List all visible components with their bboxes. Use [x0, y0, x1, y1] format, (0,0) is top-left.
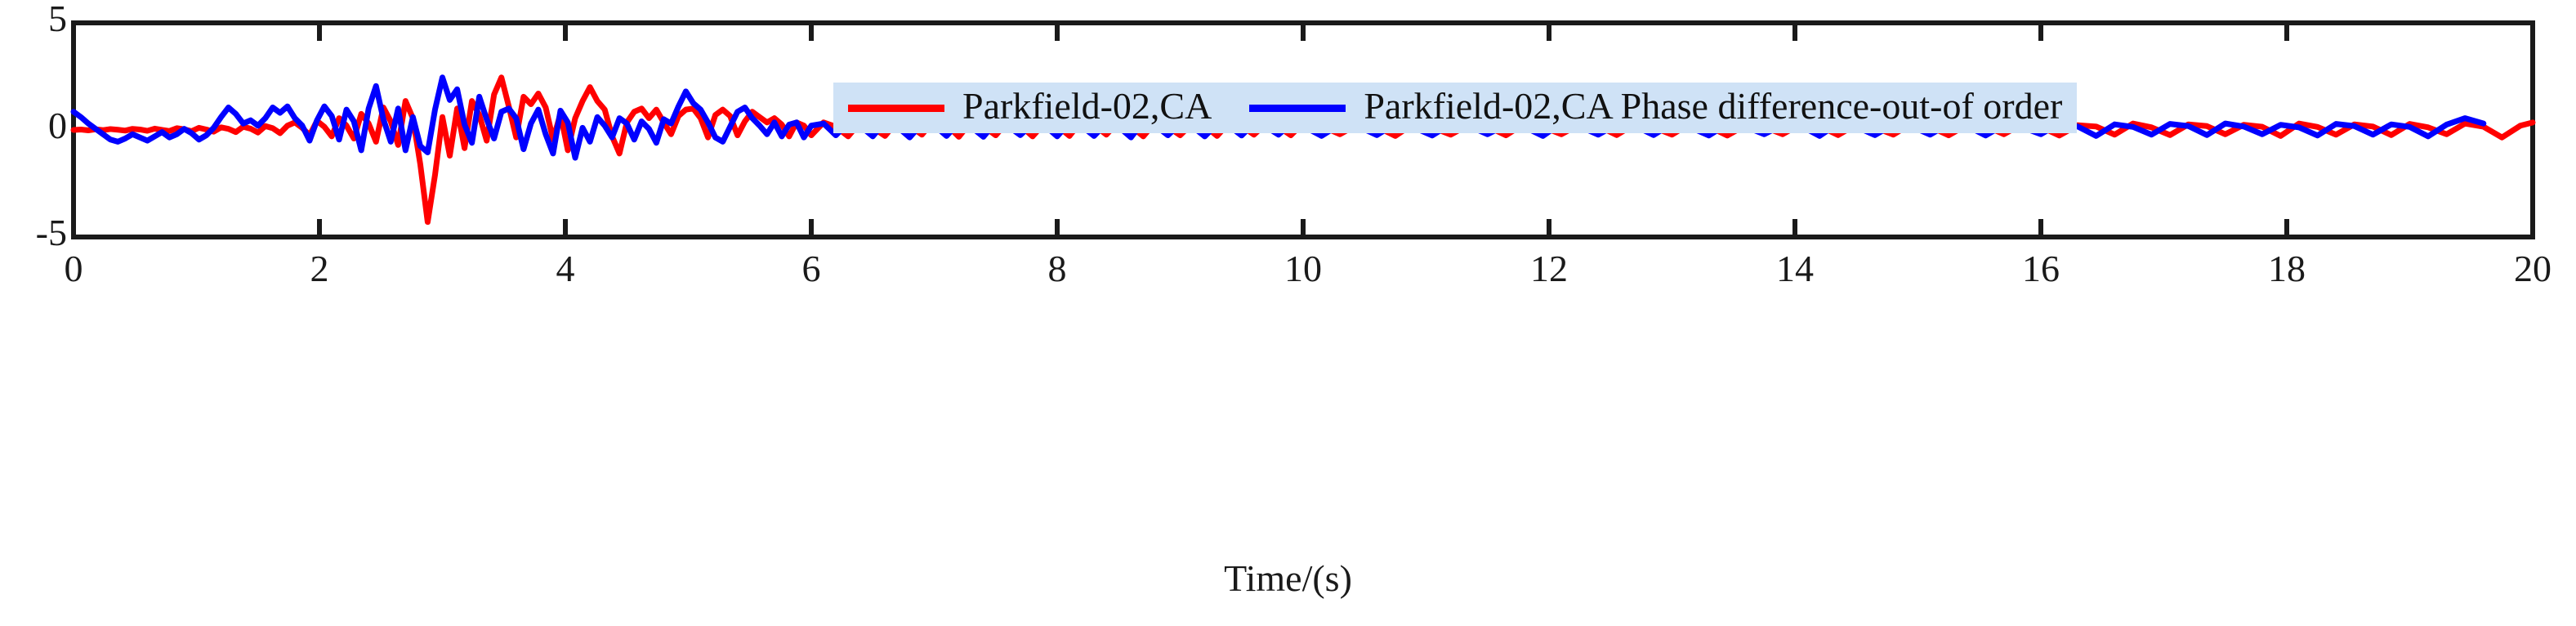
x-tick-label: 0 — [65, 250, 83, 288]
x-tick-label: 20 — [2514, 250, 2551, 288]
x-tick-label: 14 — [1776, 250, 1814, 288]
legend-color-swatch — [1249, 105, 1346, 112]
x-tick-label: 8 — [1048, 250, 1067, 288]
x-tick-label: 4 — [556, 250, 575, 288]
legend-entry-2[interactable]: Parkfield-02,CA Phase difference-out-of … — [1249, 89, 2062, 127]
x-tick-label: 16 — [2022, 250, 2060, 288]
chart-figure: Acceleration/(m/s2) 50-5 024681012141618… — [0, 0, 2576, 626]
legend-color-swatch — [848, 105, 944, 112]
x-tick-label: 18 — [2268, 250, 2306, 288]
x-tick-label: 6 — [802, 250, 821, 288]
legend-label: Parkfield-02,CA — [962, 87, 1212, 125]
legend-entry-1[interactable]: Parkfield-02,CA — [848, 89, 1212, 127]
x-tick-label: 10 — [1284, 250, 1322, 288]
x-tick-label: 2 — [310, 250, 329, 288]
x-tick-label: 12 — [1530, 250, 1568, 288]
chart-legend: Parkfield-02,CAParkfield-02,CA Phase dif… — [833, 83, 2077, 133]
x-axis-title: Time/(s) — [0, 557, 2576, 600]
legend-label: Parkfield-02,CA Phase difference-out-of … — [1364, 87, 2062, 125]
